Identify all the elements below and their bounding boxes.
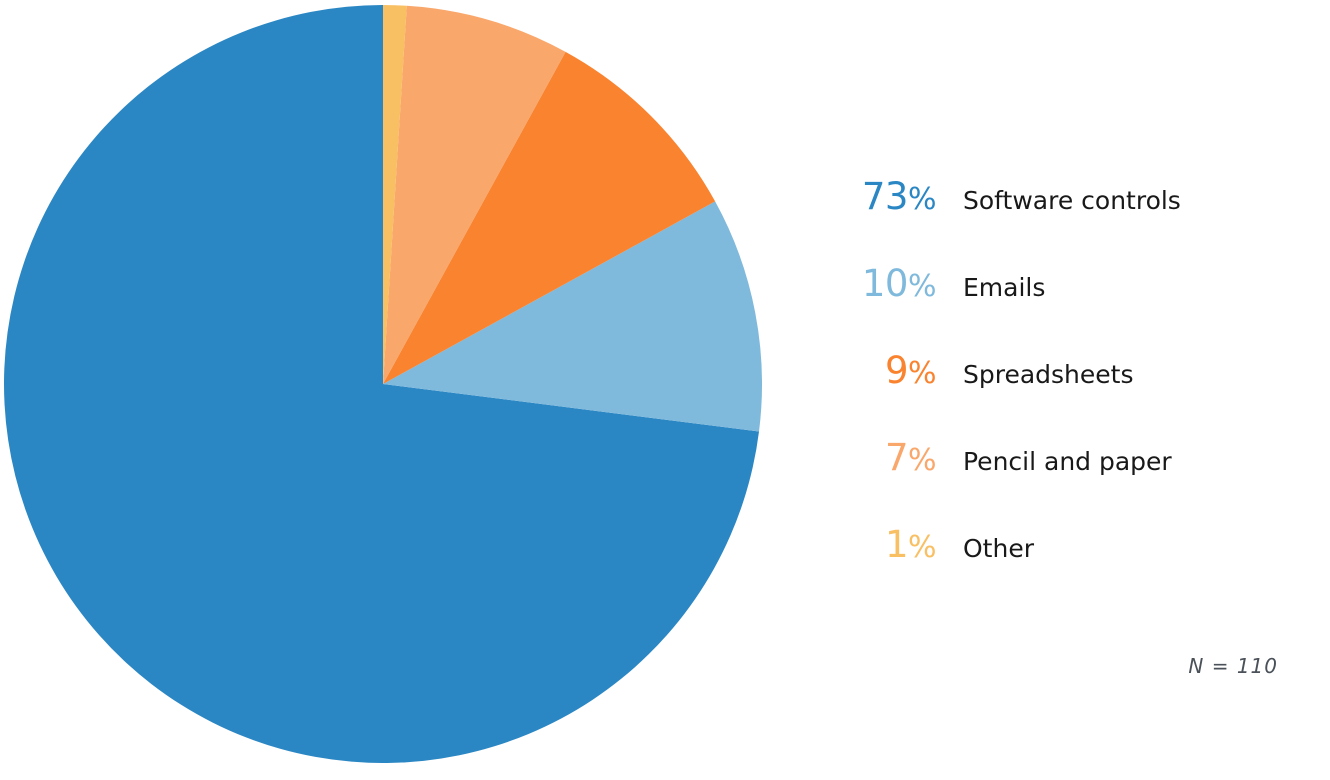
percent-sign-icon: % (908, 182, 936, 217)
pie-chart-figure: Software controls 73%Emails 10%Spreadshe… (0, 0, 1330, 780)
legend-row[interactable]: 9%Spreadsheets (790, 352, 1290, 439)
legend-percent-number: 1 (885, 523, 908, 566)
chart-legend: 73%Software controls10%Emails9%Spreadshe… (790, 178, 1290, 613)
legend-category-label: Pencil and paper (936, 443, 1172, 480)
legend-percent-value: 9% (790, 352, 936, 392)
sample-size-annotation: N = 110 (1020, 654, 1278, 678)
legend-percent-number: 9 (885, 349, 908, 392)
legend-percent-number: 7 (885, 436, 908, 479)
legend-category-label: Spreadsheets (936, 356, 1134, 393)
percent-sign-icon: % (908, 530, 936, 565)
legend-category-label: Other (936, 530, 1034, 567)
legend-row[interactable]: 10%Emails (790, 265, 1290, 352)
pie-slice-group: Software controls 73%Emails 10%Spreadshe… (4, 5, 762, 763)
percent-sign-icon: % (908, 356, 936, 391)
legend-row[interactable]: 1%Other (790, 526, 1290, 613)
legend-category-label: Software controls (936, 182, 1181, 219)
legend-percent-value: 7% (790, 439, 936, 479)
percent-sign-icon: % (908, 443, 936, 478)
legend-percent-value: 10% (790, 265, 936, 305)
legend-percent-value: 1% (790, 526, 936, 566)
legend-percent-number: 73 (862, 175, 908, 218)
legend-category-label: Emails (936, 269, 1045, 306)
legend-percent-value: 73% (790, 178, 936, 218)
percent-sign-icon: % (908, 269, 936, 304)
legend-row[interactable]: 73%Software controls (790, 178, 1290, 265)
legend-row[interactable]: 7%Pencil and paper (790, 439, 1290, 526)
legend-percent-number: 10 (862, 262, 908, 305)
